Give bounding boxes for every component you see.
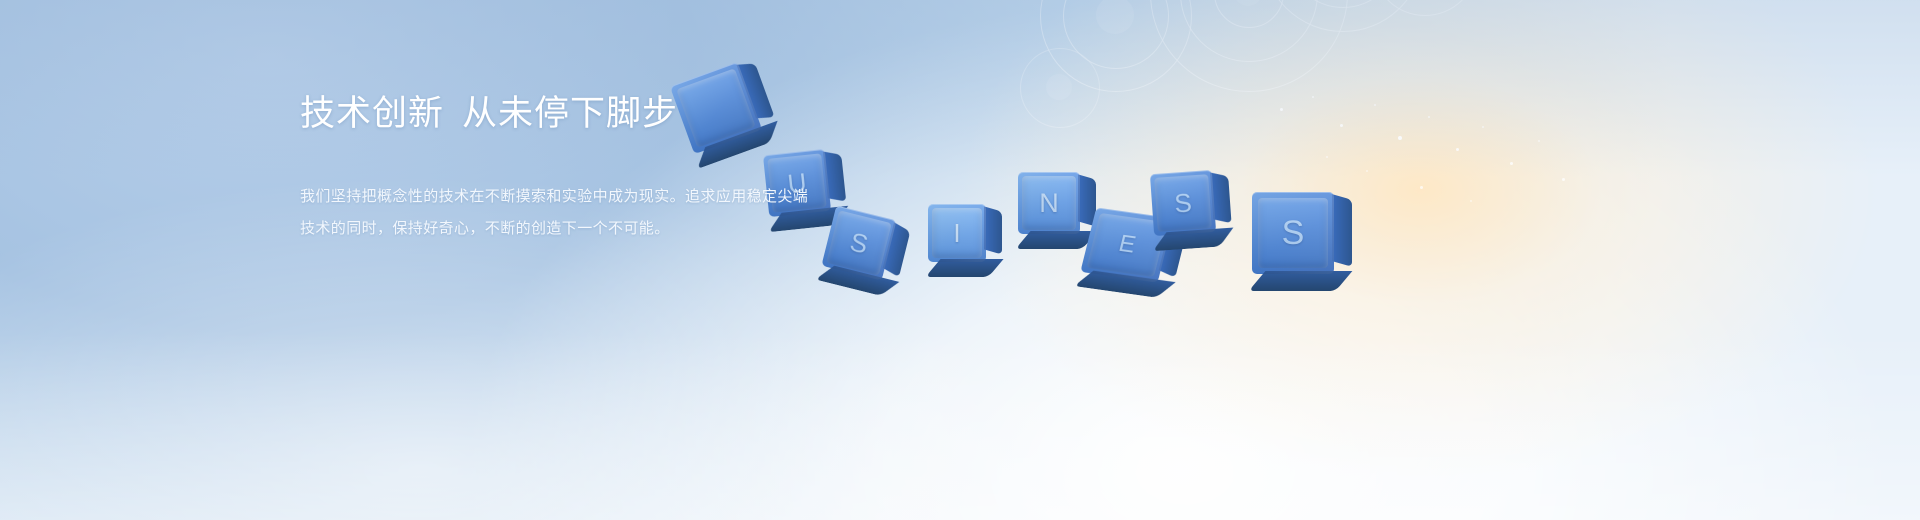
background-vignette xyxy=(0,0,1920,520)
headline-part2: 从未停下脚步 xyxy=(462,94,678,133)
keycap-s2-glyph: S xyxy=(1173,187,1192,219)
description-line-2: 技术的同时，保持好奇心，不断的创造下一个不可能。 xyxy=(300,213,940,245)
description-line-1: 我们坚持把概念性的技术在不断摸索和实验中成为现实。追求应用稳定尖端 xyxy=(300,181,940,213)
keycap-e: E xyxy=(1080,207,1173,282)
page-title: 技术创新从未停下脚步 xyxy=(300,92,940,136)
keycap-s2: S xyxy=(1150,170,1216,236)
hero-copy: 技术创新从未停下脚步 我们坚持把概念性的技术在不断摸索和实验中成为现实。追求应用… xyxy=(300,92,940,245)
keycap-s3-glyph: S xyxy=(1282,214,1305,253)
hero-banner: U S I xyxy=(0,0,1920,520)
keycap-i-glyph: I xyxy=(953,218,960,249)
concentric-rings-icon xyxy=(1000,0,1600,200)
keycap-n: N xyxy=(1018,172,1080,234)
headline-part1: 技术创新 xyxy=(300,94,444,133)
hero-description: 我们坚持把概念性的技术在不断摸索和实验中成为现实。追求应用稳定尖端 技术的同时，… xyxy=(300,181,940,245)
sparkle-dots-icon xyxy=(1270,90,1600,240)
keycap-s3: S xyxy=(1252,192,1334,274)
keycap-e-glyph: E xyxy=(1116,230,1139,260)
keycap-n-glyph: N xyxy=(1039,188,1059,219)
floating-keycaps: U S I xyxy=(0,0,1920,520)
